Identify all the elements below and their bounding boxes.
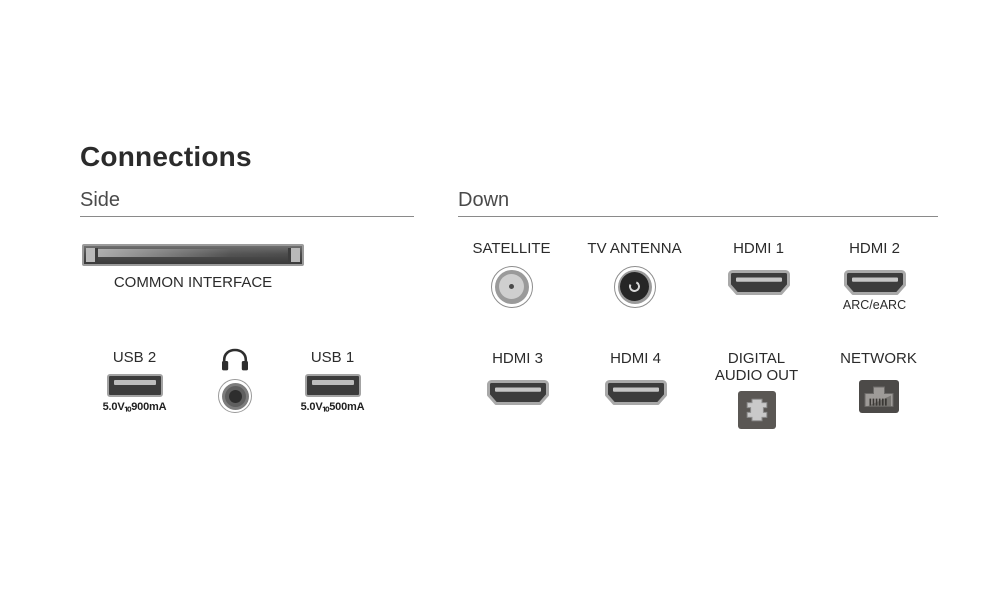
port-tv-antenna[interactable]: TV ANTENNA: [578, 241, 691, 308]
port-common-interface[interactable]: COMMON INTERFACE: [80, 244, 306, 292]
tv-antenna-connector-icon: [578, 266, 691, 308]
section-side: Side: [80, 190, 414, 217]
port-label-network: NETWORK: [822, 351, 935, 368]
port-hdmi-3[interactable]: HDMI 3: [461, 351, 574, 406]
port-hdmi-2[interactable]: HDMI 2 ARC/eARC: [818, 241, 931, 313]
page-title: Connections: [80, 142, 252, 173]
port-label-digital-audio-out-line2: AUDIO OUT: [700, 368, 813, 385]
hdmi-port-icon: [818, 270, 931, 296]
port-label-satellite: SATELLITE: [455, 241, 568, 258]
rj45-ethernet-port-icon: [822, 380, 935, 413]
section-title-down: Down: [458, 190, 938, 216]
port-label-digital-audio-out-line1: DIGITAL: [700, 351, 813, 368]
port-label-hdmi-1: HDMI 1: [702, 241, 815, 258]
section-divider-down: [458, 216, 938, 217]
headphone-jack-icon: [205, 379, 265, 413]
port-label-tv-antenna: TV ANTENNA: [578, 241, 691, 258]
headphone-icon: [205, 348, 265, 372]
port-label-hdmi-4: HDMI 4: [579, 351, 692, 368]
optical-toslink-port-icon: [700, 391, 813, 429]
port-sublabel-hdmi-2: ARC/eARC: [818, 299, 931, 313]
usb-port-icon: [275, 374, 390, 397]
port-label-hdmi-3: HDMI 3: [461, 351, 574, 368]
port-headphone[interactable]: [205, 348, 265, 413]
port-usb-1[interactable]: USB 1 5.0V⏨500mA: [275, 350, 390, 413]
port-label-usb-1: USB 1: [275, 350, 390, 367]
section-divider-side: [80, 216, 414, 217]
section-down: Down: [458, 190, 938, 217]
satellite-f-connector-icon: [455, 266, 568, 308]
usb-port-icon: [77, 374, 192, 397]
hdmi-port-icon: [461, 380, 574, 406]
port-label-hdmi-2: HDMI 2: [818, 241, 931, 258]
common-interface-slot-icon: [80, 244, 306, 266]
hdmi-port-icon: [579, 380, 692, 406]
port-rating-usb-2: 5.0V⏨900mA: [77, 402, 192, 413]
port-hdmi-1[interactable]: HDMI 1: [702, 241, 815, 296]
port-satellite[interactable]: SATELLITE: [455, 241, 568, 308]
section-title-side: Side: [80, 190, 414, 216]
port-usb-2[interactable]: USB 2 5.0V⏨900mA: [77, 350, 192, 413]
port-hdmi-4[interactable]: HDMI 4: [579, 351, 692, 406]
port-rating-usb-1: 5.0V⏨500mA: [275, 402, 390, 413]
port-digital-audio-out[interactable]: DIGITAL AUDIO OUT: [700, 351, 813, 429]
port-network[interactable]: NETWORK: [822, 351, 935, 413]
port-label-common-interface: COMMON INTERFACE: [80, 275, 306, 292]
port-label-usb-2: USB 2: [77, 350, 192, 367]
hdmi-port-icon: [702, 270, 815, 296]
